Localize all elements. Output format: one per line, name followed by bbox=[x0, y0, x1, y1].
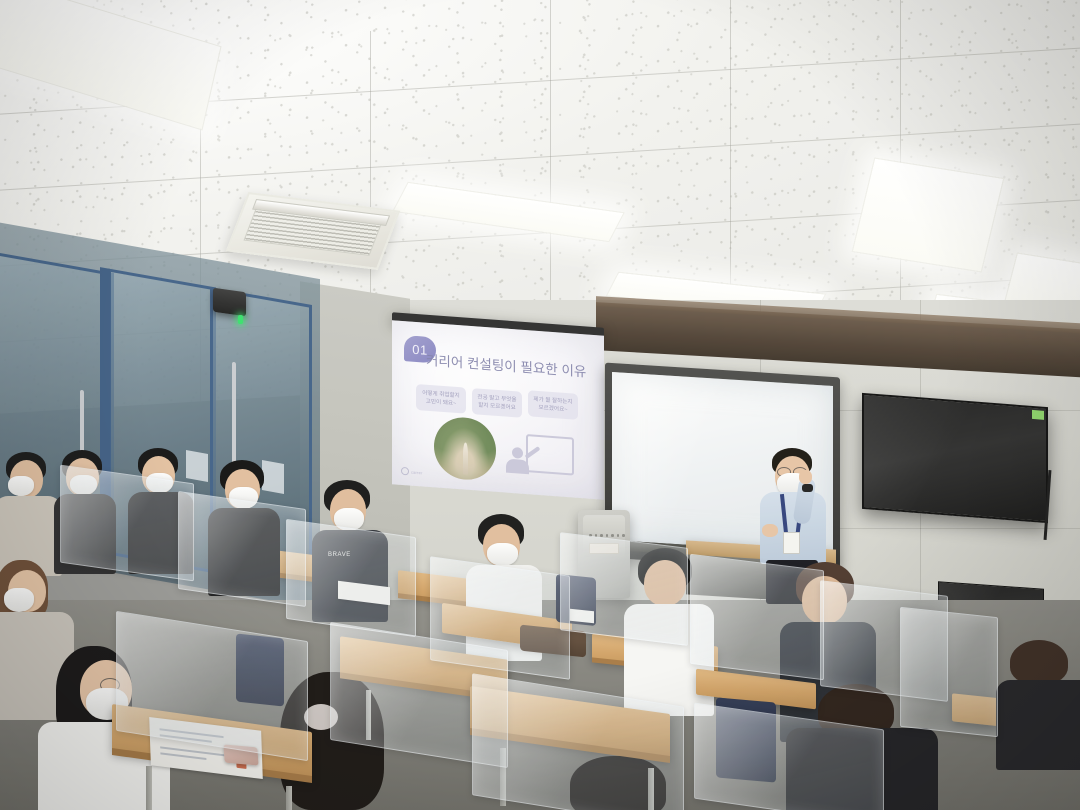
acrylic-partition bbox=[60, 465, 194, 582]
presenter-lower-hand bbox=[762, 524, 778, 537]
desk-leg bbox=[146, 766, 152, 810]
wristwatch bbox=[802, 484, 813, 492]
acrylic-partition bbox=[560, 532, 688, 646]
presenter-at-board-icon bbox=[526, 434, 574, 476]
student bbox=[1000, 640, 1080, 760]
face-mask bbox=[8, 476, 34, 496]
acrylic-partition bbox=[286, 519, 416, 637]
tv-screen-reflection bbox=[864, 395, 1046, 521]
acrylic-partition bbox=[900, 607, 998, 737]
slide-bubble-text: 전공 말고 무엇을 할지 모르겠어요 bbox=[477, 393, 516, 412]
slide-bubble: 전공 말고 무엇을 할지 모르겠어요 bbox=[472, 388, 522, 418]
slide-logo-text: career bbox=[411, 469, 422, 475]
slide-bubble: 어떻게 취업할지 고민이 돼요~ bbox=[416, 384, 466, 414]
wall-mounted-tv[interactable] bbox=[862, 393, 1048, 523]
face-mask bbox=[487, 543, 518, 566]
id-badge bbox=[783, 532, 800, 554]
presenter-hand bbox=[799, 470, 812, 484]
ceiling-light-panel bbox=[852, 157, 1005, 272]
slide-photo-figure bbox=[463, 442, 469, 475]
student-top bbox=[996, 680, 1080, 770]
slide-bubble: 제가 뭘 잘하는지 모르겠어요~ bbox=[528, 390, 578, 420]
slide-title: 커리어 컨설팅이 필요한 이유 bbox=[426, 349, 586, 381]
student-hair bbox=[1010, 640, 1068, 684]
presenter-at-board-icon-body bbox=[506, 459, 529, 475]
slide-bubble-text: 제가 뭘 잘하는지 모르겠어요~ bbox=[533, 395, 572, 414]
presenter-at-board-icon-head bbox=[512, 447, 523, 459]
speaker-status-led bbox=[238, 315, 243, 324]
acrylic-partition bbox=[690, 554, 824, 680]
door-handle[interactable] bbox=[232, 362, 236, 473]
face-mask bbox=[4, 588, 34, 612]
desk-leg bbox=[286, 786, 292, 810]
slide-bubble-text: 어떻게 취업할지 고민이 돼요~ bbox=[422, 389, 460, 408]
wall-speaker bbox=[213, 288, 246, 317]
classroom-photo: 01 커리어 컨설팅이 필요한 이유 어떻게 취업할지 고민이 돼요~ 전공 말… bbox=[0, 0, 1080, 810]
projection-screen: 01 커리어 컨설팅이 필요한 이유 어떻게 취업할지 고민이 돼요~ 전공 말… bbox=[392, 320, 604, 500]
slide-photo bbox=[434, 415, 496, 482]
slide-logo-icon bbox=[401, 467, 409, 476]
slide-logo: career bbox=[401, 467, 422, 477]
tv-sticker bbox=[1032, 410, 1044, 420]
